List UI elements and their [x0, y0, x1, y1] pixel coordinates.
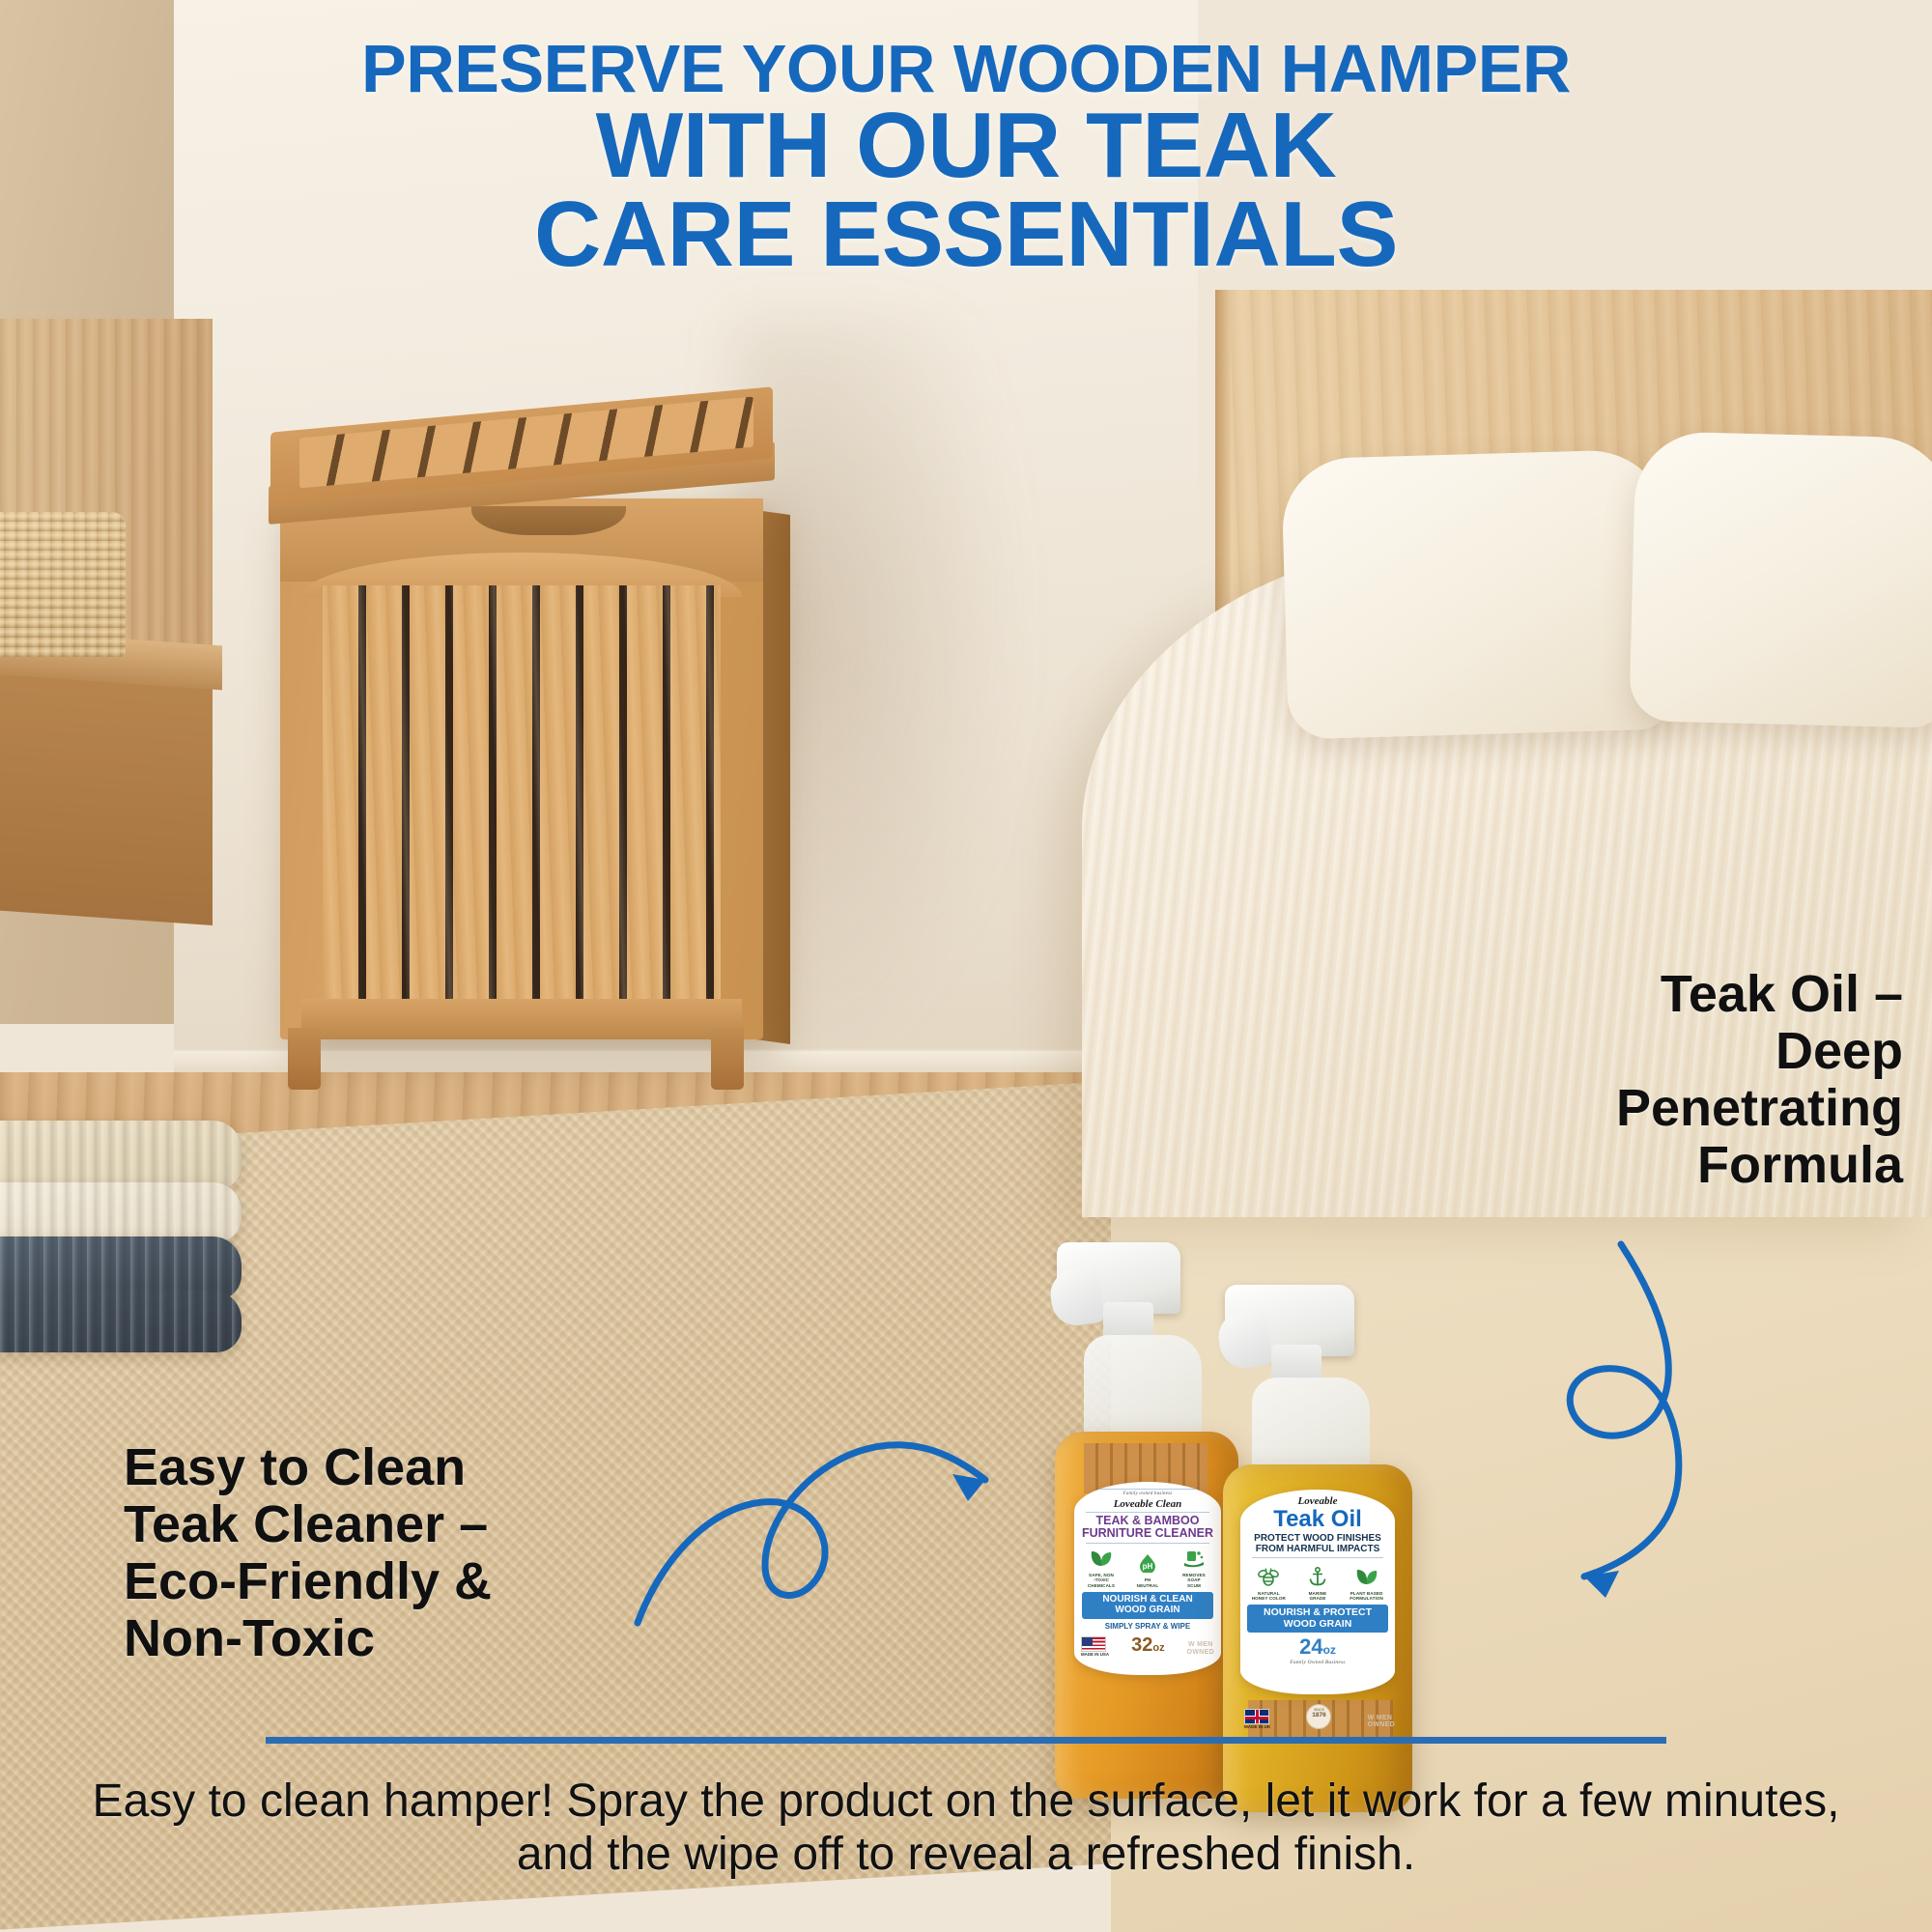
label-divider-top	[1086, 1489, 1209, 1490]
cleaner-tagline: Family owned business	[1078, 1492, 1217, 1496]
cleaner-size-value: 32	[1131, 1634, 1152, 1656]
basket-weave-texture	[0, 512, 126, 657]
oil-blue-band: NOURISH & PROTECT WOOD GRAIN	[1247, 1605, 1388, 1633]
oil-band-line1: NOURISH & PROTECT	[1249, 1607, 1386, 1618]
benefit-plant-based: PLANT BASED FORMULATION	[1343, 1567, 1390, 1602]
soap-hand-icon	[1181, 1548, 1207, 1568]
label-divider	[1252, 1557, 1383, 1558]
women-owned-line1: W MEN	[1187, 1641, 1214, 1649]
benefit-caption: PLANT BASED FORMULATION	[1343, 1591, 1390, 1602]
caption-divider	[266, 1737, 1666, 1744]
benefit-marine-grade: MARINE GRADE	[1294, 1567, 1342, 1602]
oil-size: 24oz	[1244, 1634, 1391, 1660]
oil-title: Teak Oil	[1244, 1508, 1391, 1531]
hamper-front-slats	[323, 585, 721, 1001]
bottle-neck-collar	[1103, 1302, 1153, 1339]
bee-icon	[1256, 1567, 1281, 1586]
hamper-leg-right	[711, 1028, 744, 1090]
cleaner-band-line2: WOOD GRAIN	[1084, 1605, 1211, 1616]
pillow-left	[1281, 448, 1675, 739]
product-bottle-teak-oil[interactable]: Loveable Teak Oil PROTECT WOOD FINISHES …	[1219, 1285, 1422, 1710]
benefit-safe-nontoxic: SAFE, NON -TOXIC CHEMICALS	[1079, 1548, 1123, 1588]
leaf-icon	[1354, 1567, 1379, 1586]
benefit-caption: SAFE, NON -TOXIC CHEMICALS	[1079, 1573, 1123, 1588]
benefit-caption: REMOVES SOAP SCUM	[1172, 1573, 1216, 1588]
folded-laundry-stack	[0, 1121, 251, 1352]
benefit-ph-neutral: pH PH NEUTRAL	[1125, 1553, 1170, 1588]
teak-oil-label: Loveable Teak Oil PROTECT WOOD FINISHES …	[1240, 1490, 1395, 1694]
cleaner-size-unit: oz	[1152, 1642, 1164, 1654]
oil-size-value: 24	[1299, 1634, 1322, 1659]
product-bottle-cleaner[interactable]: Family owned business Loveable Clean TEA…	[1051, 1242, 1244, 1696]
cleaner-title-line2: FURNITURE CLEANER	[1078, 1527, 1217, 1540]
oil-size-unit: oz	[1323, 1643, 1336, 1657]
cleaner-women-owned: W MEN OWNED	[1187, 1641, 1214, 1656]
us-flag-icon	[1081, 1636, 1106, 1652]
oil-women-owned: W MEN OWNED	[1368, 1715, 1395, 1729]
cleaner-label: Family owned business Loveable Clean TEA…	[1074, 1482, 1221, 1675]
wooden-laundry-hamper	[243, 410, 784, 1086]
since-year: 1876	[1307, 1713, 1330, 1719]
cleaner-benefit-icons: SAFE, NON -TOXIC CHEMICALS pH PH NEUTRAL	[1078, 1548, 1217, 1588]
oil-benefit-icons: NATURAL HONEY COLOR MARINE GRADE	[1244, 1562, 1391, 1601]
oil-origin: MADE IN UK	[1244, 1709, 1270, 1729]
headline-line-2: WITH OUR TEAK	[0, 101, 1932, 190]
hamper-bottom-rail	[301, 999, 742, 1039]
ph-drop-icon: pH	[1136, 1553, 1159, 1573]
pillow-right	[1629, 431, 1932, 728]
label-divider-mid	[1086, 1512, 1209, 1513]
oil-tagline: Family Owned Business	[1244, 1660, 1391, 1665]
benefit-removes-soap-scum: REMOVES SOAP SCUM	[1172, 1548, 1216, 1588]
callout-teak-oil: Teak Oil – Deep Penetrating Formula	[1616, 966, 1903, 1193]
cleaner-size: 32oz	[1131, 1634, 1164, 1657]
headline-line-3: CARE ESSENTIALS	[0, 190, 1932, 279]
knit-texture	[0, 1291, 241, 1352]
anchor-icon	[1307, 1567, 1328, 1586]
since-seal: SINCE 1876	[1306, 1704, 1331, 1729]
cleaner-blue-band: NOURISH & CLEAN WOOD GRAIN	[1082, 1592, 1213, 1619]
cleaner-brand: Loveable Clean	[1078, 1498, 1217, 1510]
woven-basket	[0, 512, 126, 657]
headline-block: PRESERVE YOUR WOODEN HAMPER WITH OUR TEA…	[0, 37, 1932, 280]
folded-item-2	[0, 1182, 241, 1242]
hamper-leg-left	[288, 1028, 321, 1090]
hamper-body	[280, 498, 763, 1039]
benefit-natural-honey-color: NATURAL HONEY COLOR	[1245, 1567, 1293, 1602]
callout-teak-cleaner: Easy to Clean Teak Cleaner – Eco-Friendl…	[124, 1439, 492, 1666]
leaf-icon	[1089, 1548, 1114, 1568]
folded-item-4	[0, 1291, 241, 1352]
oil-footer-row: MADE IN UK SINCE 1876 W MEN OWNED	[1244, 1704, 1395, 1729]
benefit-caption: MARINE GRADE	[1294, 1591, 1342, 1602]
oil-subtitle-line1: PROTECT WOOD FINISHES	[1244, 1534, 1391, 1545]
folded-item-1	[0, 1121, 241, 1190]
shelf-lower-section	[0, 668, 213, 925]
caption-text: Easy to clean hamper! Spray the product …	[58, 1776, 1874, 1881]
women-owned-line2: OWNED	[1187, 1649, 1214, 1657]
oil-origin-text: MADE IN UK	[1244, 1724, 1270, 1729]
cleaner-origin-text: MADE IN USA	[1081, 1652, 1109, 1657]
oil-subtitle-line2: FROM HARMFUL IMPACTS	[1244, 1545, 1391, 1555]
uk-flag-icon	[1244, 1709, 1269, 1724]
slat-wood-grain	[323, 585, 721, 1001]
women-owned-line2: OWNED	[1368, 1721, 1395, 1729]
svg-text:pH: pH	[1143, 1562, 1153, 1571]
knit-texture	[0, 1121, 241, 1190]
oil-band-line2: WOOD GRAIN	[1249, 1619, 1386, 1630]
headline-line-1: PRESERVE YOUR WOODEN HAMPER	[0, 37, 1932, 101]
benefit-caption: NATURAL HONEY COLOR	[1245, 1591, 1293, 1602]
cleaner-origin: MADE IN USA	[1081, 1636, 1109, 1657]
label-divider-bottom	[1086, 1543, 1209, 1544]
knit-texture	[0, 1182, 241, 1242]
benefit-caption: PH NEUTRAL	[1125, 1577, 1170, 1588]
promo-image-canvas: Family owned business Loveable Clean TEA…	[0, 0, 1932, 1932]
cleaner-spray-line: SIMPLY SPRAY & WIPE	[1078, 1622, 1217, 1631]
cleaner-footer-row: MADE IN USA 32oz W MEN OWNED	[1078, 1634, 1217, 1657]
women-owned-line1: W MEN	[1368, 1715, 1395, 1722]
bottle-neck-collar	[1271, 1345, 1321, 1381]
